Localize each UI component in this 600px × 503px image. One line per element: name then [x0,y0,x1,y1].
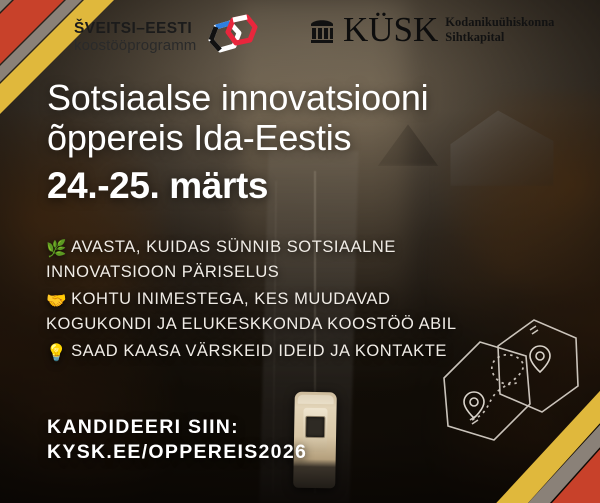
poster-root: ŠVEITSI–EESTI koostööprogramm [0,0,600,503]
list-item: 🌿AVASTA, KUIDAS SÜNNIB SOTSIAALNE INNOVA… [46,236,466,285]
bullet-list: 🌿AVASTA, KUIDAS SÜNNIB SOTSIAALNE INNOVA… [46,236,466,368]
page-title: Sotsiaalse innovatsiooni õppereis Ida-Ee… [47,78,547,157]
herb-emoji: 🌿 [46,238,67,261]
list-item-text: KOHTU INIMESTEGA, KES MUUDAVAD KOGUKONDI… [46,290,457,333]
cta-url[interactable]: KYSK.EE/OPPEREIS2026 [47,440,467,465]
call-to-action[interactable]: KANDIDEERI SIIN: KYSK.EE/OPPEREIS2026 [47,415,467,466]
cta-label: KANDIDEERI SIIN: [47,415,467,440]
title-line-2: õppereis Ida-Eestis [47,118,547,158]
list-item-text: AVASTA, KUIDAS SÜNNIB SOTSIAALNE INNOVAT… [46,238,396,281]
list-item-text: SAAD KAASA VÄRSKEID IDEID JA KONTAKTE [71,342,447,360]
list-item: 💡SAAD KAASA VÄRSKEID IDEID JA KONTAKTE [46,340,466,365]
handshake-emoji: 🤝 [46,290,67,313]
poster-content: Sotsiaalse innovatsiooni õppereis Ida-Ee… [0,0,600,503]
list-item: 🤝KOHTU INIMESTEGA, KES MUUDAVAD KOGUKOND… [46,288,466,337]
title-line-1: Sotsiaalse innovatsiooni [47,78,547,118]
light-bulb-emoji: 💡 [46,342,67,365]
event-date: 24.-25. märts [47,165,268,207]
